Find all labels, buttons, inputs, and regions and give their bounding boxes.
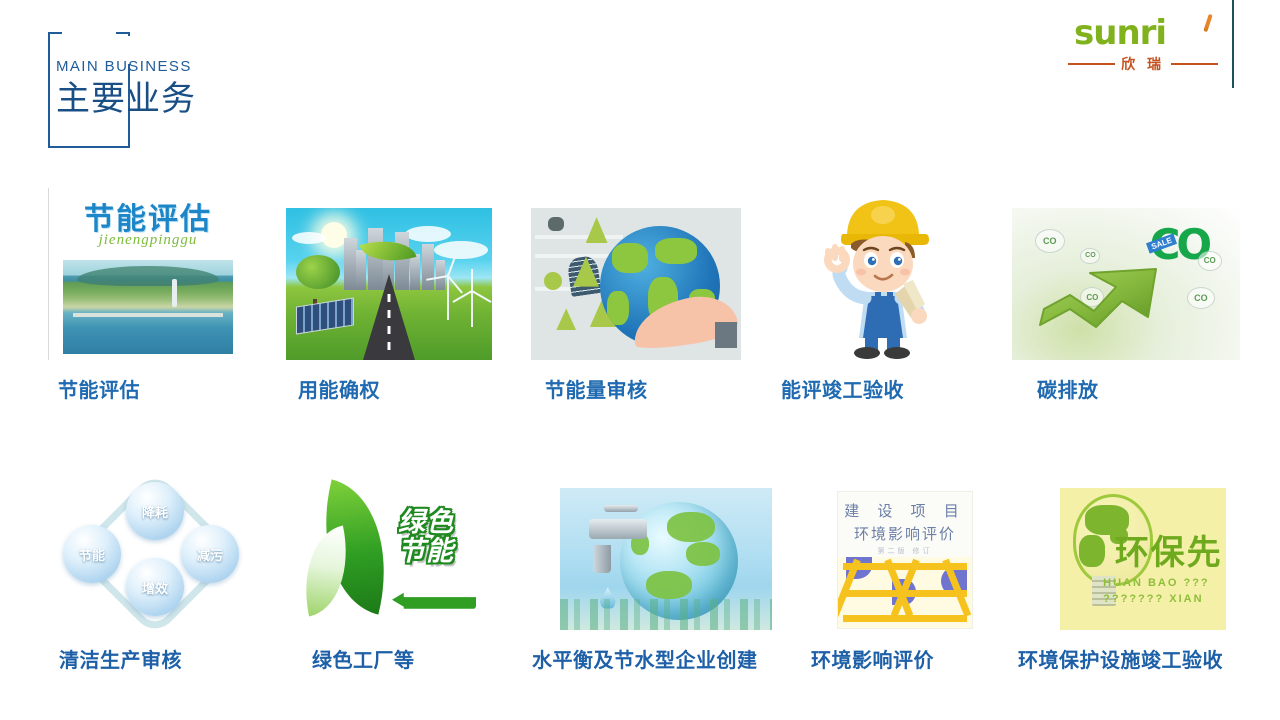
- logo-dash-right-icon: [1171, 63, 1218, 65]
- card-thumbnail: [531, 208, 741, 360]
- card-label: 能评竣工验收: [781, 374, 904, 403]
- poster-pinyin-text: HUAN BAO ??? ??????? XIAN: [1103, 576, 1223, 608]
- card-label: 用能确权: [298, 374, 380, 403]
- cloud-icon: [292, 232, 326, 244]
- faucet-handle-icon: [604, 505, 638, 512]
- card-thumbnail: 节能评估 jienengpinggu: [53, 188, 243, 360]
- business-row-1: 节能评估 jienengpinggu 节能评估: [0, 188, 1280, 408]
- cover-graphic: [838, 557, 972, 628]
- poster-pinyin: jienengpinggu: [53, 232, 243, 249]
- eia-book-cover-art: 建 设 项 目 环境影响评价 第二版 修订: [811, 488, 997, 630]
- city-silhouette-shape: [560, 599, 772, 630]
- business-card-clean-production[interactable]: 降耗 节能 减污 增效 清洁生产审核: [55, 478, 255, 693]
- poster-chinese-text: 环保先: [1115, 525, 1223, 574]
- logo-wordmark: sunri: [1074, 16, 1166, 50]
- cycle-node-top: 降耗: [126, 482, 184, 540]
- turbine-blade: [472, 290, 492, 303]
- tree-icon: [586, 217, 608, 243]
- cloud-icon: [405, 226, 451, 242]
- wind-turbine-icon: [471, 287, 473, 327]
- title-english: MAIN BUSINESS: [56, 58, 356, 76]
- card-label: 清洁生产审核: [59, 644, 182, 673]
- landmass-shape: [612, 243, 648, 273]
- business-card-carbon-emission[interactable]: CO SALE CO CO CO CO CO: [1011, 188, 1241, 408]
- green-leaf-logo-art: 绿色 节能: [292, 478, 492, 630]
- bridge-shape: [73, 313, 223, 317]
- co2-bubble-icon: CO: [1187, 287, 1215, 309]
- card-thumbnail: 降耗 节能 减污 增效: [55, 478, 255, 630]
- clean-production-diagram-art: 降耗 节能 减污 增效: [55, 478, 255, 630]
- landmass-shape: [646, 571, 692, 599]
- card-label: 碳排放: [1037, 374, 1099, 403]
- landmass-shape: [1079, 535, 1105, 567]
- logo-subtitle-wrap: 欣 瑞: [1068, 54, 1218, 74]
- road-marking-shape: [388, 294, 391, 354]
- business-card-acceptance-check[interactable]: 能评竣工验收: [779, 188, 979, 408]
- title-chinese: 主要业务: [56, 78, 356, 121]
- cover-yellow-bar: [843, 615, 966, 622]
- business-card-savings-audit[interactable]: 节能量审核: [531, 188, 741, 408]
- tree-icon: [556, 308, 576, 330]
- bush-icon: [544, 272, 562, 290]
- pipe-shape: [535, 254, 611, 258]
- cover-line-3: 第二版 修订: [838, 546, 972, 556]
- turbine-blade: [447, 276, 463, 294]
- page-title: MAIN BUSINESS 主要业务: [56, 58, 356, 121]
- landmass-shape: [686, 542, 720, 566]
- card-thumbnail: 环保先 HUAN BAO ??? ??????? XIAN: [1060, 488, 1226, 630]
- poster-pinyin-line1: HUAN BAO ???: [1103, 576, 1223, 592]
- poster-pinyin-line2: ??????? XIAN: [1103, 592, 1223, 608]
- green-arrow-icon: [1030, 261, 1162, 333]
- card-label: 环境影响评价: [811, 644, 934, 673]
- header-divider: [1232, 0, 1234, 88]
- frame-mask-top: [62, 28, 116, 36]
- eco-bulb-poster-art: 环保先 HUAN BAO ??? ??????? XIAN: [1060, 488, 1226, 630]
- card-thumbnail: 绿色 节能: [292, 478, 492, 630]
- turbine-nacelle-shape: [548, 217, 564, 231]
- faucet-body-icon: [589, 519, 647, 539]
- business-card-energy-rights[interactable]: 用能确权: [284, 188, 494, 408]
- business-card-env-facility-acceptance[interactable]: 环保先 HUAN BAO ??? ??????? XIAN 环境保护设施竣工验收: [1018, 478, 1268, 693]
- cover-line-2: 环境影响评价: [838, 523, 972, 544]
- logo-dash-left-icon: [1068, 63, 1115, 65]
- card-thumbnail: CO SALE CO CO CO CO CO: [1012, 208, 1240, 360]
- cloud-icon: [434, 241, 488, 259]
- landmass-shape: [667, 512, 715, 542]
- tree-icon: [296, 255, 340, 289]
- business-row-2: 降耗 节能 减污 增效 清洁生产审核 绿色 节能 绿色工厂等: [0, 478, 1280, 693]
- book-cover: 建 设 项 目 环境影响评价 第二版 修订: [837, 491, 973, 629]
- worker-cartoon-art: [779, 188, 979, 360]
- card-label: 节能评估: [58, 374, 140, 403]
- eco-city-art: [286, 208, 492, 360]
- wind-turbine-icon: [447, 274, 449, 320]
- card-left-rule: [48, 188, 49, 360]
- landmass-shape: [655, 238, 697, 264]
- faucet-spout-icon: [593, 545, 611, 573]
- card-label: 节能量审核: [545, 374, 648, 403]
- card-thumbnail: [286, 208, 492, 360]
- device-shape: [715, 322, 737, 348]
- landmass-shape: [607, 291, 629, 325]
- business-card-water-balance[interactable]: 水平衡及节水型企业创建: [528, 478, 803, 693]
- card-label: 绿色工厂等: [312, 644, 415, 673]
- building-shape: [344, 238, 357, 290]
- water-globe-art: [560, 488, 772, 630]
- card-label: 水平衡及节水型企业创建: [532, 644, 758, 673]
- business-card-energy-assessment[interactable]: 节能评估 jienengpinggu 节能评估: [48, 188, 244, 408]
- cycle-node-right: 减污: [181, 525, 239, 583]
- logo-wordmark-wrap: sunri: [1068, 18, 1218, 54]
- carbon-arrow-art: CO SALE CO CO CO CO CO: [1012, 208, 1240, 360]
- turbine-blade: [447, 255, 456, 276]
- leaf-logo-line1: 绿色: [398, 507, 454, 537]
- turbine-blade: [471, 269, 473, 291]
- logo-accent-icon: [1203, 14, 1212, 32]
- energy-assessment-poster-art: 节能评估 jienengpinggu: [53, 188, 243, 360]
- cover-line-1: 建 设 项 目: [838, 500, 972, 521]
- business-card-green-factory[interactable]: 绿色 节能 绿色工厂等: [292, 478, 492, 693]
- co2-bubble-icon: CO: [1035, 229, 1065, 253]
- poster-photo: [63, 260, 233, 354]
- card-thumbnail: [779, 188, 979, 360]
- hand-globe-art: [531, 208, 741, 360]
- card-thumbnail: [560, 488, 772, 630]
- leaf-logo-line2: 节能: [398, 536, 454, 566]
- company-logo: sunri 欣 瑞: [1068, 18, 1218, 80]
- solar-panel-icon: [296, 297, 354, 334]
- card-label: 环境保护设施竣工验收: [1018, 644, 1223, 673]
- building-shape: [422, 244, 434, 290]
- business-card-eia[interactable]: 建 设 项 目 环境影响评价 第二版 修订: [811, 478, 997, 693]
- cycle-node-left: 节能: [63, 525, 121, 583]
- logo-subtitle: 欣 瑞: [1121, 54, 1165, 74]
- card-thumbnail: 建 设 项 目 环境影响评价 第二版 修订: [811, 488, 997, 630]
- co2-bubble-icon: CO: [1198, 251, 1222, 271]
- recycle-swoosh-icon: [392, 589, 476, 609]
- pipe-shape: [535, 235, 623, 239]
- cycle-node-bottom: 增效: [126, 558, 184, 616]
- leaf-logo-text: 绿色 节能: [372, 508, 480, 565]
